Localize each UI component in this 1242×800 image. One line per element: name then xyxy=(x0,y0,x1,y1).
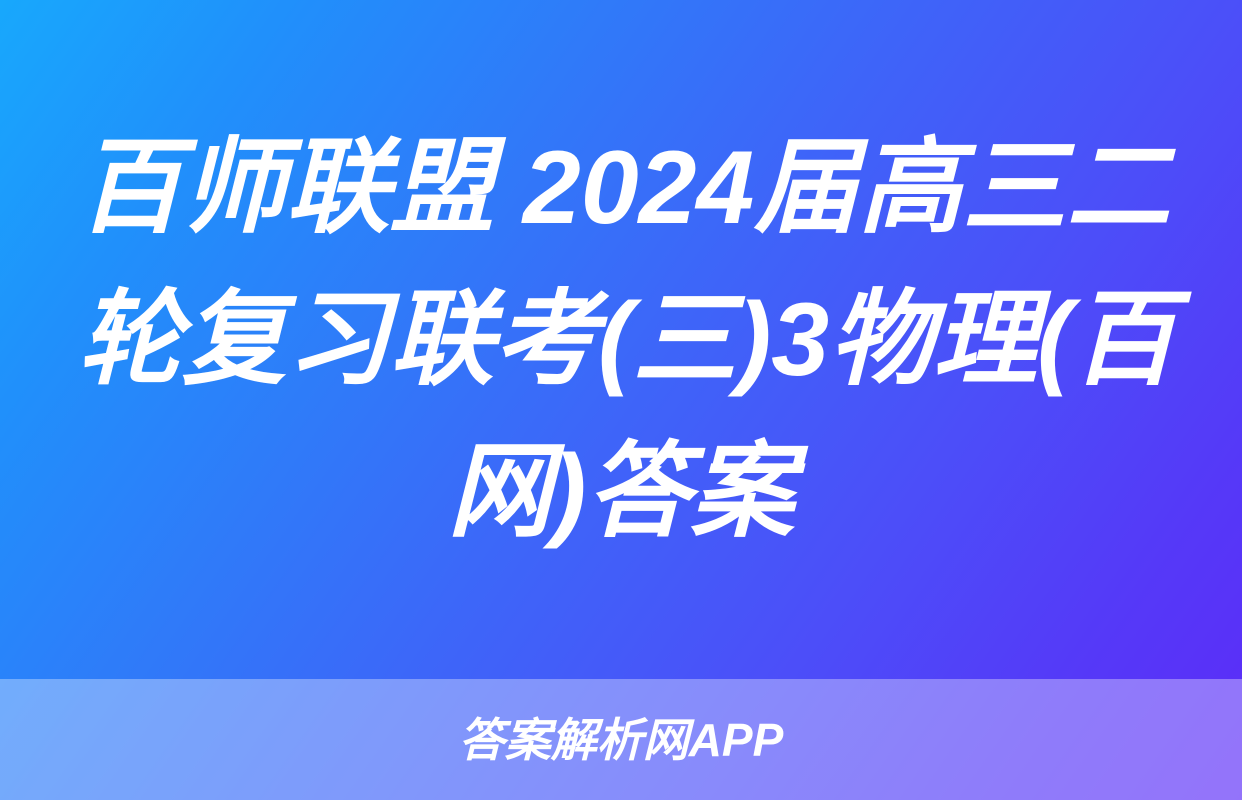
title-line-3: 网)答案 xyxy=(78,416,1164,568)
title-line-2: 轮复习联考(三)3物理(百 xyxy=(78,264,1164,416)
app-watermark-label: 答案解析网APP xyxy=(459,717,784,763)
footer-watermark-band: 答案解析网APP xyxy=(0,679,1242,800)
answer-poster: 百师联盟 2024届高三二 轮复习联考(三)3物理(百 网)答案 答案解析网AP… xyxy=(0,0,1242,800)
title-line-1: 百师联盟 2024届高三二 xyxy=(78,112,1164,264)
poster-title-block: 百师联盟 2024届高三二 轮复习联考(三)3物理(百 网)答案 xyxy=(0,0,1242,679)
